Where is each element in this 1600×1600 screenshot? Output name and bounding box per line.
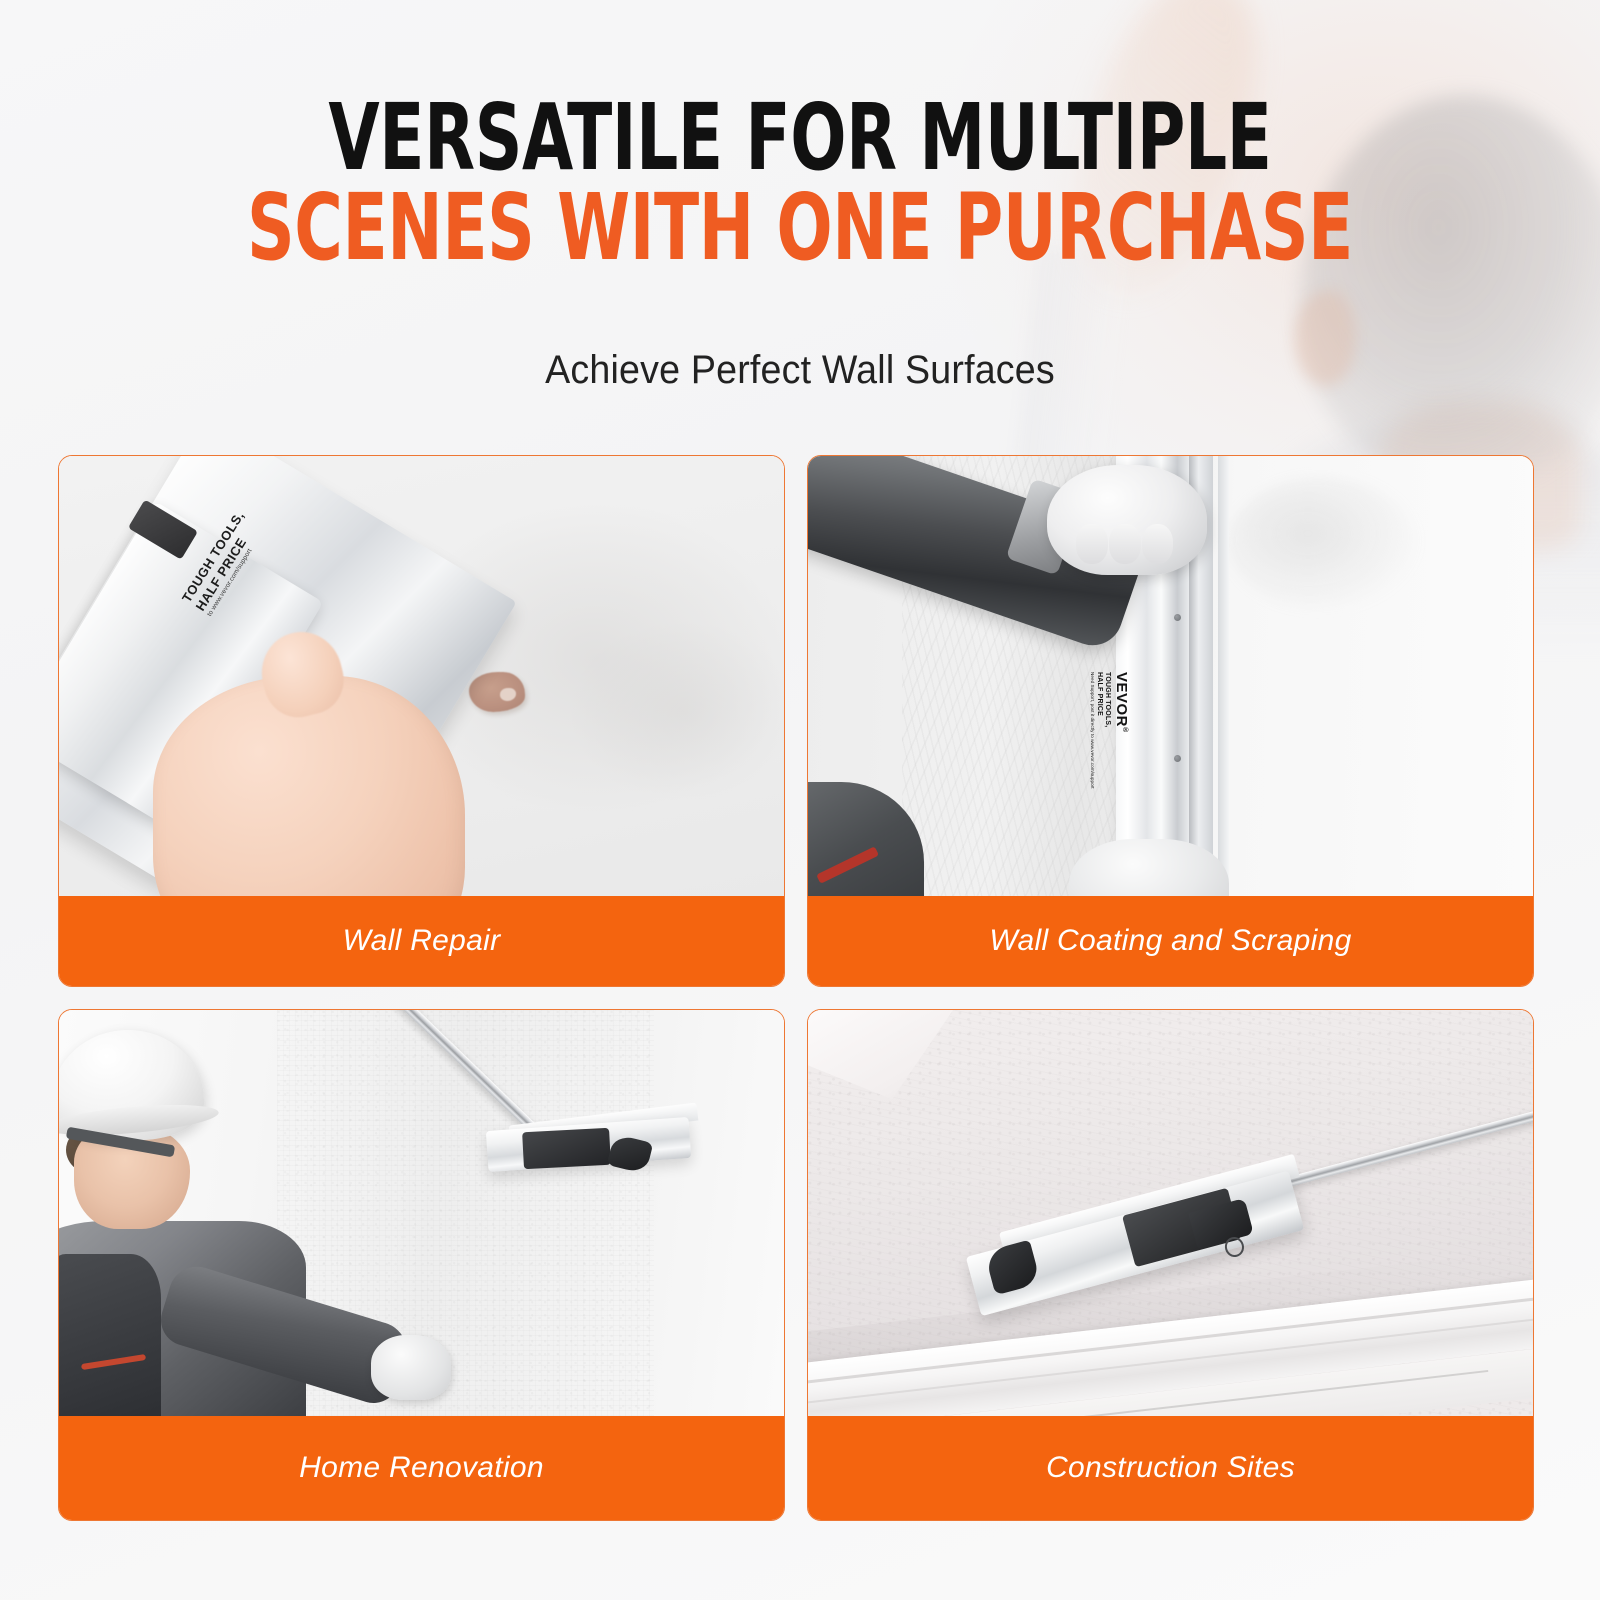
headline-line-1: VERSATILE FOR MULTIPLE (160, 96, 1440, 181)
wall-smudge (1229, 478, 1418, 610)
scene-panel-home-renovation: Home Renovation (58, 1009, 785, 1521)
photo-wall-repair: TOUGH TOOLS, HALF PRICE to www.vevor.com… (59, 456, 784, 896)
headline-line-2: SCENES WITH ONE PURCHASE (160, 186, 1440, 271)
product-feature-poster: VERSATILE FOR MULTIPLE SCENES WITH ONE P… (0, 0, 1600, 1600)
glove-finger (1076, 524, 1108, 564)
photo-home-renovation (59, 1010, 784, 1416)
panel-caption-home-renovation: Home Renovation (59, 1416, 784, 1520)
brand-name: VEVOR (1113, 672, 1130, 727)
vevor-brand-logo: VEVOR® TOUGH TOOLS, HALF PRICE Need Supp… (1090, 672, 1129, 789)
photo-wall-coating: VEVOR® TOUGH TOOLS, HALF PRICE Need Supp… (808, 456, 1533, 896)
support-website: Need Support, post it directly to www.ve… (1090, 672, 1095, 789)
panel-caption-wall-repair: Wall Repair (59, 896, 784, 986)
skimming-blade-rail (1218, 456, 1229, 896)
glove-finger (1109, 524, 1141, 564)
worker-vest (59, 1254, 161, 1416)
panel-caption-wall-coating: Wall Coating and Scraping (808, 896, 1533, 986)
scene-panel-grid: TOUGH TOOLS, HALF PRICE to www.vevor.com… (58, 455, 1534, 1521)
photo-construction-sites (808, 1010, 1533, 1416)
gloved-hand (371, 1335, 451, 1400)
headline: VERSATILE FOR MULTIPLE SCENES WITH ONE P… (0, 96, 1600, 270)
glove-finger (1142, 524, 1174, 564)
panel-caption-construction-sites: Construction Sites (808, 1416, 1533, 1520)
wall-damage-patch (469, 672, 525, 712)
tagline-line-1: TOUGH TOOLS, (1104, 672, 1112, 789)
scene-panel-construction-sites: Construction Sites (807, 1009, 1534, 1521)
subtitle: Achieve Perfect Wall Surfaces (48, 348, 1552, 393)
registered-mark: ® (1121, 727, 1128, 733)
scene-panel-wall-coating-and-scraping: VEVOR® TOUGH TOOLS, HALF PRICE Need Supp… (807, 455, 1534, 987)
tagline-line-2: HALF PRICE (1095, 672, 1103, 789)
pole-bracket (522, 1128, 611, 1169)
scene-panel-wall-repair: TOUGH TOOLS, HALF PRICE to www.vevor.com… (58, 455, 785, 987)
